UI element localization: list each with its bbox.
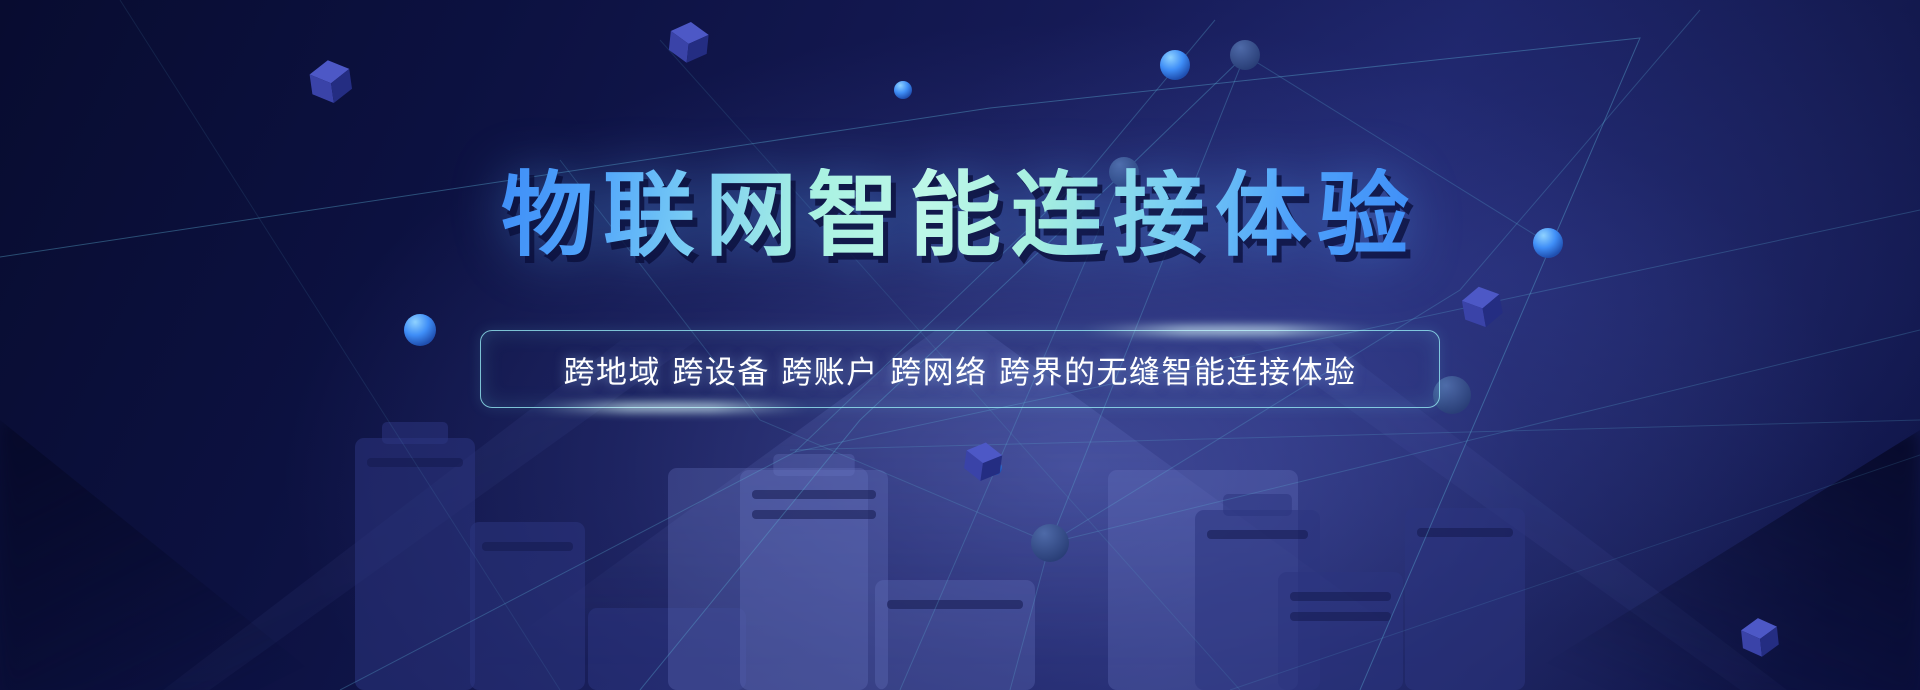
hero-banner: 物联网智能连接体验 跨地域 跨设备 跨账户 跨网络 跨界的无缝智能连接体验 (0, 0, 1920, 690)
hero-subtitle-wrap: 跨地域 跨设备 跨账户 跨网络 跨界的无缝智能连接体验 (0, 330, 1920, 408)
subtitle-box: 跨地域 跨设备 跨账户 跨网络 跨界的无缝智能连接体验 (480, 330, 1440, 408)
building-right-2 (1195, 494, 1320, 690)
building-left-2 (470, 522, 585, 690)
right-dark-wedge (1300, 430, 1920, 690)
cube-upper-left (308, 57, 354, 105)
building-center-2 (740, 454, 888, 690)
hero-subtitle: 跨地域 跨设备 跨账户 跨网络 跨界的无缝智能连接体验 (564, 347, 1357, 392)
node-center-hub (1031, 524, 1069, 562)
cube-bottom-right (1740, 616, 1780, 658)
building-left-3 (588, 608, 746, 690)
hero-title-wrap: 物联网智能连接体验 (0, 168, 1920, 265)
cube-mid-right (1460, 283, 1505, 330)
building-center-3 (875, 580, 1035, 690)
building-right-tall (1108, 470, 1298, 690)
node-top-muted (1230, 40, 1260, 70)
building-center-tall (668, 468, 868, 690)
node-small-mid (988, 461, 1002, 475)
box-glow-top (1079, 327, 1379, 334)
node-top-bright (1160, 50, 1190, 80)
building-far-right (1405, 508, 1525, 690)
cube-upper-right (668, 20, 710, 65)
node-small-upper (894, 81, 912, 99)
building-far-left (355, 422, 475, 690)
cube-lower-center (963, 440, 1004, 484)
hero-title: 物联网智能连接体验 (501, 168, 1419, 265)
left-dark-wedge (0, 420, 560, 690)
building-right-3 (1278, 572, 1403, 690)
box-glow-bottom (531, 404, 811, 411)
